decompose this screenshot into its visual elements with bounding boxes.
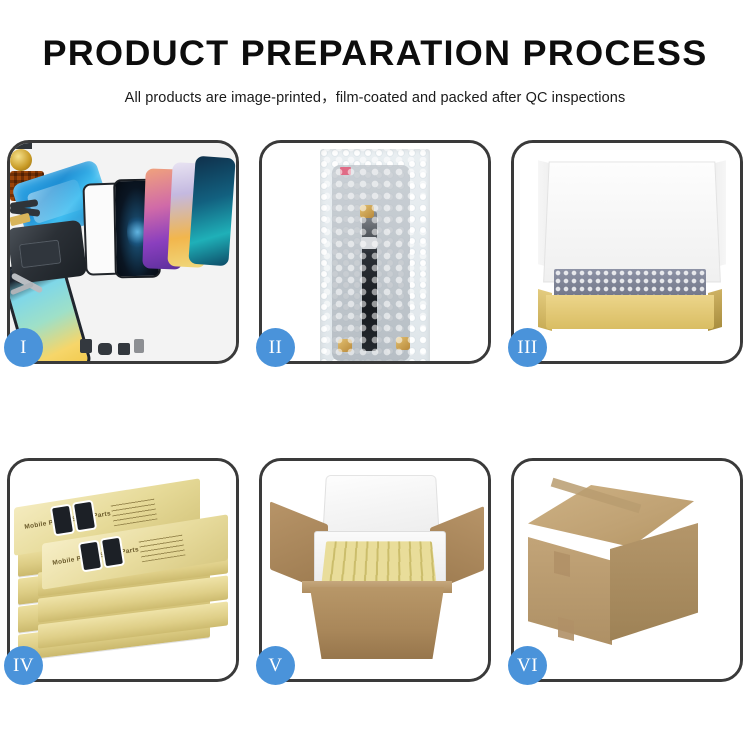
step-badge-2: II	[256, 328, 295, 367]
part-chip-a	[80, 339, 92, 353]
box-stack: Mobile Phone Spare Parts Mobile Phone Sp…	[12, 477, 236, 673]
part-chip-b	[98, 343, 112, 355]
step-badge-1: I	[4, 328, 43, 367]
step-badge-6: VI	[508, 646, 547, 685]
box-tray-front	[546, 295, 714, 329]
step-card-6: VI	[511, 458, 743, 682]
step-badge-5: V	[256, 646, 295, 685]
part-speaker-coil	[10, 149, 32, 171]
step-image-5	[262, 461, 488, 679]
carton-handle-tab-lower	[558, 617, 574, 641]
process-steps-grid: I II	[7, 140, 743, 682]
step-card-1: I	[7, 140, 239, 364]
step-card-3: III	[511, 140, 743, 364]
yellow-boxes-inside	[322, 541, 437, 582]
part-back-housing	[10, 220, 87, 285]
carton-front-panel	[304, 587, 450, 659]
carton-handle-tab-upper	[554, 551, 570, 577]
lcd-flex-cable	[362, 211, 377, 351]
phone-teal-screen	[188, 156, 235, 267]
step-badge-3: III	[508, 328, 547, 367]
step-card-4: Mobile Phone Spare Parts Mobile Phone Sp…	[7, 458, 239, 682]
pink-label	[340, 167, 351, 175]
step-badge-4: IV	[4, 646, 43, 685]
gold-tab-right	[396, 337, 410, 350]
step-image-1	[10, 143, 236, 361]
part-chip-c	[118, 343, 130, 355]
box-white-lid	[543, 162, 721, 283]
page-header: PRODUCT PREPARATION PROCESS All products…	[0, 0, 750, 107]
step-image-6	[514, 461, 740, 679]
step-card-2: II	[259, 140, 491, 364]
gold-tab-top	[360, 205, 374, 218]
page-title: PRODUCT PREPARATION PROCESS	[0, 36, 750, 73]
step-image-4: Mobile Phone Spare Parts Mobile Phone Sp…	[10, 461, 236, 679]
page-subtitle: All products are image-printed，film-coat…	[0, 86, 750, 107]
step-card-5: V	[259, 458, 491, 682]
gold-tab-left	[338, 339, 352, 352]
step-image-2	[262, 143, 488, 361]
lcd-connector	[361, 237, 377, 249]
product-preparation-page: PRODUCT PREPARATION PROCESS All products…	[0, 0, 750, 750]
part-chip-d	[134, 339, 144, 353]
step-image-3	[514, 143, 740, 361]
